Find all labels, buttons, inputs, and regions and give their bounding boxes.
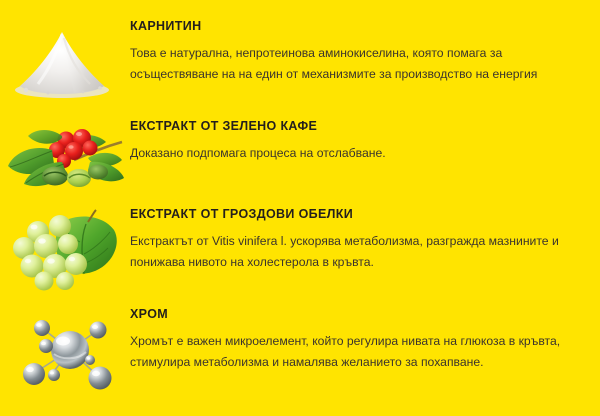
ingredient-description: Доказано подпомага процеса на отслабване… xyxy=(130,143,588,165)
grape-skin-media xyxy=(0,208,130,294)
ingredient-row-green-coffee-extract: ЕКСТРАКТ ОТ ЗЕЛЕНО КАФЕ Доказано подпома… xyxy=(0,120,600,194)
ingredient-row-carnitine: КАРНИТИН Това е натурална, непротеинова … xyxy=(0,20,600,106)
ingredient-title: КАРНИТИН xyxy=(130,20,588,34)
ingredient-title: ЕКСТРАКТ ОТ ГРОЗДОВИ ОБЕЛКИ xyxy=(130,208,588,222)
green-grapes-image xyxy=(0,208,130,294)
ingredient-description: Хромът е важен микроелемент, който регул… xyxy=(130,331,588,374)
green-coffee-branch-image xyxy=(0,120,130,194)
carnitine-content: КАРНИТИН Това е натурална, непротеинова … xyxy=(130,20,600,86)
chromium-media xyxy=(0,308,130,400)
grape-skin-content: ЕКСТРАКТ ОТ ГРОЗДОВИ ОБЕЛКИ Екстрактът о… xyxy=(130,208,600,274)
chromium-content: ХРОМ Хромът е важен микроелемент, който … xyxy=(130,308,600,374)
ingredient-description: Това е натурална, непротеинова аминокисе… xyxy=(130,43,588,86)
ingredient-description: Екстрактът от Vitis vinifera l. ускорява… xyxy=(130,231,588,274)
ingredient-row-grape-skin-extract: ЕКСТРАКТ ОТ ГРОЗДОВИ ОБЕЛКИ Екстрактът о… xyxy=(0,208,600,294)
carnitine-media xyxy=(0,20,130,106)
ingredients-page: КАРНИТИН Това е натурална, непротеинова … xyxy=(0,0,600,416)
green-coffee-media xyxy=(0,120,130,194)
ingredient-title: ХРОМ xyxy=(130,308,588,322)
ingredient-title: ЕКСТРАКТ ОТ ЗЕЛЕНО КАФЕ xyxy=(130,120,588,134)
chromium-molecule-image xyxy=(0,308,130,400)
green-coffee-content: ЕКСТРАКТ ОТ ЗЕЛЕНО КАФЕ Доказано подпома… xyxy=(130,120,600,164)
ingredient-row-chromium: ХРОМ Хромът е важен микроелемент, който … xyxy=(0,308,600,400)
white-powder-pile-image xyxy=(0,20,130,106)
